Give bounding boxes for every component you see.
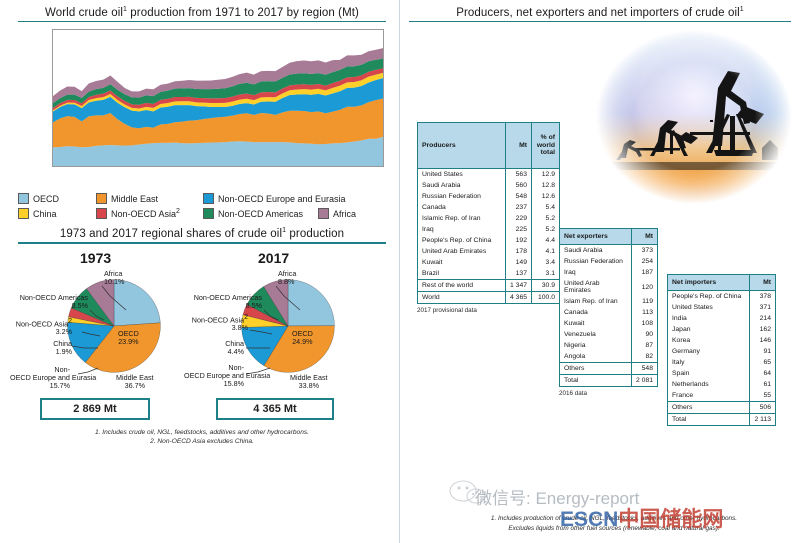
cell-name: United States (418, 169, 506, 181)
table-row: Total 2 113 (668, 414, 776, 426)
importers-table: Net importers Mt People's Rep. of China3… (667, 274, 776, 426)
pies-title-text: 1973 and 2017 regional shares of crude o… (60, 228, 282, 240)
pies-title-rule (18, 242, 386, 244)
legend-swatch (318, 208, 329, 219)
cell-name: People's Rep. of China (418, 235, 506, 246)
producers-header-row: Producers Mt % ofworldtotal (418, 123, 560, 169)
table-row: Iraq2255.2 (418, 224, 560, 235)
cell-value: 65 (750, 357, 776, 368)
exporters-others-block: Others 548 (560, 363, 658, 375)
exporters-note: 2016 data (559, 390, 658, 397)
cell-value: 560 (506, 180, 532, 191)
world-mt: 4 365 (506, 292, 532, 304)
table-row: Saudi Arabia373 (560, 245, 658, 257)
cell-name: Saudi Arabia (560, 245, 632, 257)
cell-name: Kuwait (560, 318, 632, 329)
table-row: India214 (668, 313, 776, 324)
pie-charts-area: 1973 2 869 Mt 2017 4 365 Mt 1. Includes … (18, 248, 386, 458)
cell-value: 178 (506, 246, 532, 257)
cell-name: United Arab Emirates (418, 246, 506, 257)
legend-swatch (96, 193, 107, 204)
producers-col-name: Producers (418, 123, 506, 169)
right-column: Producers, net exporters and net importe… (409, 6, 791, 22)
cell-name: Venezuela (560, 329, 632, 340)
cell-value: 225 (506, 224, 532, 235)
cell-value: 229 (506, 213, 532, 224)
cell-value: 12.9 (532, 169, 560, 181)
cell-value: 113 (632, 307, 658, 318)
importers-col-name: Net importers (668, 275, 750, 291)
exporters-table-wrapper: Net exporters Mt Saudi Arabia373Russian … (559, 228, 658, 397)
cell-value: 3.1 (532, 268, 560, 280)
exporters-header-row: Net exporters Mt (560, 229, 658, 245)
legend-item-non-oecd-europe-and-eurasia: Non-OECD Europe and Eurasia (203, 193, 346, 204)
legend-label: Non-OECD Asia2 (111, 208, 180, 219)
legend-label: OECD (33, 194, 59, 204)
cell-name: Islam Rep. of Iran (560, 296, 632, 307)
producers-col-pct: % ofworldtotal (532, 123, 560, 169)
cell-value: 119 (632, 296, 658, 307)
cell-value: 548 (506, 191, 532, 202)
cell-name: Korea (668, 335, 750, 346)
cell-name: Iraq (560, 267, 632, 278)
left-footnote-1: 1. Includes crude oil, NGL, feedstocks, … (18, 428, 386, 438)
cell-value: 137 (506, 268, 532, 280)
producers-col-mt: Mt (506, 123, 532, 169)
producers-rest-block: Rest of the world 1 347 30.9 (418, 280, 560, 292)
table-row: Kuwait1493.4 (418, 257, 560, 268)
exporters-col-mt: Mt (632, 229, 658, 245)
cell-name: Canada (418, 202, 506, 213)
left-column: World crude oil1 production from 1971 to… (18, 6, 386, 458)
rest-label: Rest of the world (418, 280, 506, 292)
cell-value: 162 (750, 324, 776, 335)
table-row: United States56312.9 (418, 169, 560, 181)
pies-title: 1973 and 2017 regional shares of crude o… (18, 227, 386, 243)
pie-chart-2017 (236, 274, 340, 378)
pie-label-1973-non-oecd-americas: Non-OECD Americas8.5% (16, 294, 88, 311)
cell-name: Brazil (418, 268, 506, 280)
cell-value: 90 (632, 329, 658, 340)
producers-note: 2017 provisional data (417, 307, 560, 314)
cell-value: 237 (506, 202, 532, 213)
pie-label-2017-non-oecd-americas: Non-OECD Americas8.5% (190, 294, 262, 311)
footnote-marker-right: 1 (740, 6, 744, 13)
importers-header-row: Net importers Mt (668, 275, 776, 291)
cell-name: France (668, 390, 750, 402)
table-row: United Arab Emirates120 (560, 278, 658, 296)
cell-value: 149 (506, 257, 532, 268)
right-footnote-1: 1. Includes production of crude oil, NGL… (439, 514, 789, 524)
exporters-total-mt: 2 081 (632, 375, 658, 387)
cell-value: 5.2 (532, 213, 560, 224)
exporters-col-name: Net exporters (560, 229, 632, 245)
legend-swatch (203, 208, 214, 219)
legend-item-oecd: OECD (18, 193, 59, 204)
table-row: Korea146 (668, 335, 776, 346)
oil-pumpjack-image (594, 28, 794, 206)
table-row: Spain64 (668, 368, 776, 379)
table-row: United Arab Emirates1784.1 (418, 246, 560, 257)
cell-name: Islamic Rep. of Iran (418, 213, 506, 224)
world-pct: 100.0 (532, 292, 560, 304)
table-row: Venezuela90 (560, 329, 658, 340)
area-chart-title-text: World crude oil (45, 7, 123, 19)
cell-name: Italy (668, 357, 750, 368)
legend-label: Africa (333, 209, 356, 219)
cell-name: Angola (560, 351, 632, 363)
cell-name: Germany (668, 346, 750, 357)
cell-name: Netherlands (668, 379, 750, 390)
importers-total-block: Total 2 113 (668, 414, 776, 426)
importers-total-mt: 2 113 (750, 414, 776, 426)
cell-value: 5.2 (532, 224, 560, 235)
pie-svg-1973 (62, 274, 166, 378)
legend-swatch (18, 193, 29, 204)
importers-table-wrapper: Net importers Mt People's Rep. of China3… (667, 274, 776, 426)
pie-label-2017-non-oecd-asia: Non-OECD Asia23.8% (186, 314, 248, 333)
legend-label: Middle East (111, 194, 158, 204)
cell-name: United States (668, 302, 750, 313)
pie-label-2017-middle-east: Middle East33.8% (290, 374, 328, 391)
table-row: Russian Federation54812.6 (418, 191, 560, 202)
pie-label-1973-non-oecd-asia: Non-OECD Asia23.2% (8, 318, 72, 337)
legend-item-china: China (18, 208, 57, 219)
cell-value: 373 (632, 245, 658, 257)
table-row: People's Rep. of China378 (668, 291, 776, 303)
cell-value: 91 (750, 346, 776, 357)
wechat-logo-watermark (448, 478, 488, 504)
world-label: World (418, 292, 506, 304)
cell-name: Japan (668, 324, 750, 335)
legend-item-africa: Africa (318, 208, 356, 219)
title-rule (18, 21, 386, 23)
pie-label-2017-oecd: OECD24.9% (292, 330, 313, 347)
cell-value: 3.4 (532, 257, 560, 268)
table-row: Others 548 (560, 363, 658, 375)
pie-label-2017-china: China4.4% (194, 340, 244, 357)
cell-value: 146 (750, 335, 776, 346)
exporters-body: Saudi Arabia373Russian Federation254Iraq… (560, 245, 658, 363)
pie-label-1973-non-oecd-europe-and-eurasia: Non-OECD Europe and Eurasia15.7% (10, 366, 70, 391)
cell-value: 371 (750, 302, 776, 313)
right-footnotes: 1. Includes production of crude oil, NGL… (439, 514, 789, 533)
area-chart-title: World crude oil1 production from 1971 to… (18, 6, 386, 22)
cell-name: Russian Federation (418, 191, 506, 202)
area-chart-plot: 05001 0001 5002 0002 5003 0003 5004 0004… (52, 29, 384, 167)
table-row: Nigeria87 (560, 340, 658, 351)
cell-value: 87 (632, 340, 658, 351)
pie-label-1973-oecd: OECD23.9% (118, 330, 139, 347)
table-row: Canada2375.4 (418, 202, 560, 213)
legend-item-non-oecd-americas: Non-OECD Americas (203, 208, 303, 219)
table-row: Iraq187 (560, 267, 658, 278)
area-chart: 05001 0001 5002 0002 5003 0003 5004 0004… (18, 27, 386, 187)
exporters-total-label: Total (560, 375, 632, 387)
infographic-page: World crude oil1 production from 1971 to… (0, 0, 800, 543)
table-row: Kuwait108 (560, 318, 658, 329)
table-row: People's Rep. of China1924.4 (418, 235, 560, 246)
cell-value: 4.4 (532, 235, 560, 246)
pie-label-2017-non-oecd-europe-and-eurasia: Non-OECD Europe and Eurasia15.8% (184, 364, 244, 389)
producers-body: United States56312.9Saudi Arabia56012.8R… (418, 169, 560, 280)
cell-value: 5.4 (532, 202, 560, 213)
legend-label: Non-OECD Europe and Eurasia (218, 194, 346, 204)
importers-col-mt: Mt (750, 275, 776, 291)
pie-svg-2017 (236, 274, 340, 378)
table-row: World 4 365 100.0 (418, 292, 560, 304)
right-title: Producers, net exporters and net importe… (409, 6, 791, 22)
table-row: Total 2 081 (560, 375, 658, 387)
pies-title-text-2: production (286, 228, 344, 240)
table-row: Islam Rep. of Iran119 (560, 296, 658, 307)
pie-chart-1973 (62, 274, 166, 378)
legend-label: China (33, 209, 57, 219)
cell-value: 254 (632, 256, 658, 267)
importers-total-label: Total (668, 414, 750, 426)
producers-thead: Producers Mt % ofworldtotal (418, 123, 560, 169)
pie-year-1973: 1973 (80, 250, 111, 266)
legend-label: Non-OECD Americas (218, 209, 303, 219)
producers-table: Producers Mt % ofworldtotal United State… (417, 122, 560, 304)
cell-value: 12.8 (532, 180, 560, 191)
table-row: Russian Federation254 (560, 256, 658, 267)
importers-thead: Net importers Mt (668, 275, 776, 291)
left-footnote-2: 2. Non-OECD Asia excludes China. (18, 437, 386, 447)
area-chart-title-text-2: production from 1971 to 2017 by region (… (127, 7, 359, 19)
cell-name: United Arab Emirates (560, 278, 632, 296)
exporters-others-label: Others (560, 363, 632, 375)
table-row: Brazil1373.1 (418, 268, 560, 280)
cell-value: 82 (632, 351, 658, 363)
column-divider (399, 0, 400, 543)
cell-name: Canada (560, 307, 632, 318)
cell-value: 61 (750, 379, 776, 390)
importers-others-block: Others 506 (668, 402, 776, 414)
cell-name: Russian Federation (560, 256, 632, 267)
cell-value: 120 (632, 278, 658, 296)
wechat-id-watermark: 微信号: Energy-report (475, 484, 639, 509)
legend-item-middle-east: Middle East (96, 193, 158, 204)
rest-pct: 30.9 (532, 280, 560, 292)
cell-value: 187 (632, 267, 658, 278)
producers-table-wrapper: Producers Mt % ofworldtotal United State… (417, 122, 560, 314)
cell-value: 55 (750, 390, 776, 402)
cell-name: Iraq (418, 224, 506, 235)
table-row: Italy65 (668, 357, 776, 368)
pie-label-2017-africa: Africa8.8% (278, 270, 296, 287)
cell-value: 563 (506, 169, 532, 181)
exporters-thead: Net exporters Mt (560, 229, 658, 245)
table-row: France55 (668, 390, 776, 402)
importers-body: People's Rep. of China378United States37… (668, 291, 776, 402)
right-title-rule (409, 21, 791, 23)
table-row: Islamic Rep. of Iran2295.2 (418, 213, 560, 224)
cell-name: Nigeria (560, 340, 632, 351)
cell-name: Spain (668, 368, 750, 379)
table-row: Germany91 (668, 346, 776, 357)
rest-mt: 1 347 (506, 280, 532, 292)
table-row: Others 506 (668, 402, 776, 414)
importers-others-mt: 506 (750, 402, 776, 414)
cell-value: 64 (750, 368, 776, 379)
table-row: Rest of the world 1 347 30.9 (418, 280, 560, 292)
cell-value: 12.6 (532, 191, 560, 202)
right-title-text: Producers, net exporters and net importe… (456, 7, 740, 19)
total-box-1973: 2 869 Mt (40, 398, 150, 420)
cell-value: 108 (632, 318, 658, 329)
legend-swatch (96, 208, 107, 219)
cell-name: India (668, 313, 750, 324)
importers-others-label: Others (668, 402, 750, 414)
table-row: Japan162 (668, 324, 776, 335)
area-chart-legend: OECDMiddle EastNon-OECD Europe and Euras… (18, 193, 386, 223)
table-row: Saudi Arabia56012.8 (418, 180, 560, 191)
cell-name: Kuwait (418, 257, 506, 268)
legend-item-non-oecd-asia: Non-OECD Asia2 (96, 208, 180, 219)
table-row: Canada113 (560, 307, 658, 318)
left-footnotes: 1. Includes crude oil, NGL, feedstocks, … (18, 428, 386, 447)
exporters-others-mt: 548 (632, 363, 658, 375)
cell-name: People's Rep. of China (668, 291, 750, 303)
cell-value: 214 (750, 313, 776, 324)
pie-label-1973-china: China1.9% (22, 340, 72, 357)
total-box-2017: 4 365 Mt (216, 398, 334, 420)
cell-value: 378 (750, 291, 776, 303)
area-chart-svg (53, 30, 383, 166)
legend-swatch (18, 208, 29, 219)
cell-value: 192 (506, 235, 532, 246)
pie-year-2017: 2017 (258, 250, 289, 266)
table-row: Netherlands61 (668, 379, 776, 390)
table-row: United States371 (668, 302, 776, 313)
table-row: Angola82 (560, 351, 658, 363)
cell-name: Saudi Arabia (418, 180, 506, 191)
right-footnote-2: Excludes liquids from other fuel sources… (439, 524, 789, 534)
producers-total-block: World 4 365 100.0 (418, 292, 560, 304)
pie-label-1973-middle-east: Middle East36.7% (116, 374, 154, 391)
exporters-table: Net exporters Mt Saudi Arabia373Russian … (559, 228, 658, 387)
pie-label-1973-africa: Africa10.1% (104, 270, 124, 287)
cell-value: 4.1 (532, 246, 560, 257)
exporters-total-block: Total 2 081 (560, 375, 658, 387)
legend-swatch (203, 193, 214, 204)
